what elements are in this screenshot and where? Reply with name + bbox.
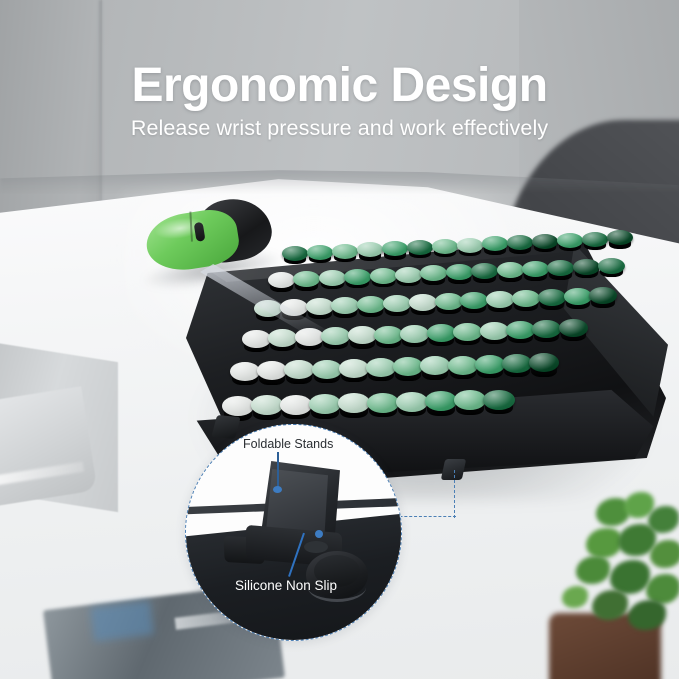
keycap: [370, 268, 397, 284]
silicone-non-slip-label: Silicone Non Slip: [235, 578, 337, 593]
keycap: [582, 232, 608, 247]
keycap: [427, 324, 456, 342]
keycap: [293, 271, 320, 287]
keycap: [268, 272, 295, 288]
keycap: [400, 325, 429, 343]
keycap: [448, 356, 478, 375]
keycap: [242, 330, 271, 348]
keycap: [222, 396, 254, 416]
keycap: [497, 262, 524, 278]
connector-vertical-dashed: [454, 470, 456, 518]
keycap: [309, 394, 341, 414]
keycap: [319, 270, 346, 286]
keycap: [383, 295, 411, 312]
keycap: [573, 259, 600, 275]
keycap: [532, 234, 558, 249]
keycap: [480, 322, 509, 340]
keycap: [282, 246, 308, 261]
keycap: [344, 269, 371, 285]
magazine-cover-art: [90, 600, 154, 641]
keycap: [506, 321, 535, 339]
keycap: [307, 245, 333, 260]
keycap: [312, 360, 342, 379]
foldable-stands-leader-line: [277, 452, 279, 490]
keycap: [306, 298, 334, 315]
page-subtitle: Release wrist pressure and work effectiv…: [0, 116, 679, 141]
plant-leaf: [650, 540, 679, 568]
keycap: [547, 260, 574, 276]
magnifier-callout: [185, 424, 402, 641]
keycap: [564, 288, 592, 305]
keycap: [522, 261, 549, 277]
keycap: [453, 323, 482, 341]
callout-foot-notch: [304, 541, 328, 553]
silicone-leader-dot: [315, 530, 323, 538]
keycap: [409, 294, 437, 311]
keycap: [598, 258, 625, 274]
monitor-base: [0, 386, 97, 508]
keycap: [435, 293, 463, 310]
keycap: [457, 238, 483, 253]
keycap: [502, 354, 532, 373]
keycap: [332, 244, 358, 259]
keycap: [395, 267, 422, 283]
keycap: [557, 233, 583, 248]
page-title: Ergonomic Design: [0, 58, 679, 113]
keycap: [374, 326, 403, 344]
keycap: [483, 390, 515, 410]
keycap: [475, 355, 505, 374]
keycap: [230, 362, 260, 381]
keycap: [559, 319, 588, 337]
keycap: [407, 240, 433, 255]
foldable-stands-leader-dot: [273, 486, 282, 493]
keycap: [512, 290, 540, 307]
keycap: [432, 239, 458, 254]
keycap: [280, 395, 312, 415]
keycap: [538, 289, 566, 306]
keycap: [486, 291, 514, 308]
keycap: [367, 393, 399, 413]
foldable-stands-label: Foldable Stands: [243, 437, 333, 451]
product-marketing-image: Ergonomic Design Release wrist pressure …: [0, 0, 679, 679]
keycap: [357, 296, 385, 313]
